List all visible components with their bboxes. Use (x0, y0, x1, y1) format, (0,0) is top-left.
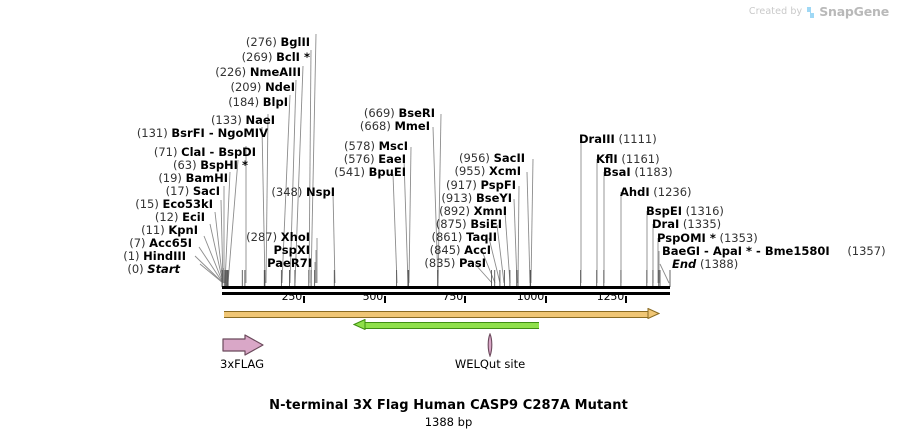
ruler-label-750: 750 (443, 290, 464, 303)
site-enzyme-name: BspHI (200, 158, 238, 172)
ruler-label-1250: 1250 (597, 290, 625, 303)
site-enzyme-name: AccI (464, 243, 491, 257)
site-position: (226) (215, 65, 246, 79)
site-position: (1111) (618, 132, 656, 146)
site-position: (955) (454, 164, 485, 178)
star-marker: * (300, 50, 310, 64)
site-position: (1353) (720, 231, 758, 245)
site-enzyme-name: PaeR7I (267, 256, 312, 270)
cds-track-arrow[interactable] (353, 319, 539, 330)
site-enzyme-name: EciI (182, 210, 205, 224)
site-enzyme-name: BclI (276, 50, 300, 64)
site-label[interactable]: (348) NspI (160, 186, 335, 199)
enzyme-label-layer: (276) BglII (269) BclI * (226) NmeAIII (… (0, 0, 897, 290)
cds-arrowhead-icon (353, 319, 539, 330)
3xflag-caption: 3xFLAG (220, 357, 264, 371)
site-position: (184) (228, 95, 259, 109)
site-enzyme-name: PasI (459, 256, 486, 270)
site-label[interactable]: (209) NdeI (0, 81, 295, 94)
site-enzyme-name-alt: BspDI (218, 145, 256, 159)
ruler-tick-250 (303, 296, 305, 303)
star-marker: * (706, 231, 716, 245)
site-enzyme-name: PspXI (274, 243, 310, 257)
site-position: (209) (230, 80, 261, 94)
site-position: (0) (127, 262, 143, 276)
site-enzyme-name: XmnI (474, 204, 507, 218)
site-label[interactable]: (668) MmeI (260, 120, 430, 133)
site-position: (913) (441, 191, 472, 205)
site-position: (71) (154, 145, 178, 159)
site-label[interactable]: (955) XcmI (340, 165, 521, 178)
snapgene-map: Created by SnapGene (0, 0, 897, 437)
site-enzyme-name: DraI (652, 217, 679, 231)
site-position: (15) (135, 197, 159, 211)
site-label[interactable]: AhdI (1236) (620, 186, 692, 199)
site-position: (1357) (847, 244, 885, 258)
ruler-label-250: 250 (282, 290, 303, 303)
site-position: (269) (242, 50, 273, 64)
ruler-tick-500 (384, 296, 386, 303)
ruler-label-500: 500 (363, 290, 384, 303)
site-enzyme-name: BamHI (186, 171, 228, 185)
site-enzyme-name: BseRI (398, 106, 435, 120)
site-enzyme-name: NdeI (265, 80, 295, 94)
site-enzyme-name: ClaI (181, 145, 205, 159)
site-enzyme-name: TaqII (466, 230, 497, 244)
ruler-tick-1000 (545, 296, 547, 303)
site-position: (1161) (621, 152, 659, 166)
site-enzyme-name: BsiEI (470, 217, 502, 231)
site-enzyme-name: MmeI (394, 119, 430, 133)
star-marker: * (238, 158, 248, 172)
ruler-tick-1250 (625, 296, 627, 303)
site-label-start[interactable]: (0) Start (0, 263, 180, 276)
site-position: (669) (364, 106, 395, 120)
site-enzyme-name: DraIII (579, 132, 615, 146)
site-position: (956) (459, 151, 490, 165)
site-label[interactable]: PaeR7I (160, 257, 312, 270)
site-position: (19) (158, 171, 182, 185)
site-position: (1) (123, 249, 139, 263)
site-label-end[interactable]: End (1388) (672, 258, 738, 271)
site-position: (1183) (634, 165, 672, 179)
site-position: (668) (360, 119, 391, 133)
site-label[interactable]: (835) PasI (340, 257, 486, 270)
site-position: (917) (446, 178, 477, 192)
site-position: (287) (246, 230, 277, 244)
site-enzyme-name: XcmI (489, 164, 521, 178)
site-position: (131) (137, 126, 168, 140)
site-position: (63) (173, 158, 197, 172)
site-label[interactable]: (226) NmeAIII (0, 66, 301, 79)
site-label[interactable]: DraI (1335) (652, 218, 721, 231)
ruler-tick-750 (464, 296, 466, 303)
site-position: (348) (271, 185, 302, 199)
site-enzyme-name: BsrFI (171, 126, 204, 140)
site-label[interactable]: (184) BlpI (0, 96, 288, 109)
orf-arrowhead-icon (224, 308, 660, 319)
site-enzyme-name-alt2: Bme1580I (765, 244, 830, 258)
site-position: (1236) (653, 185, 691, 199)
site-enzyme-name: KflI (596, 152, 618, 166)
site-enzyme-name: XhoI (281, 230, 310, 244)
site-position: (835) (424, 256, 455, 270)
end-label: End (672, 257, 696, 271)
site-enzyme-name: SacII (494, 151, 525, 165)
site-position: (1316) (686, 204, 724, 218)
site-enzyme-name: BspEI (646, 204, 682, 218)
site-position: (861) (431, 230, 462, 244)
site-enzyme-name: AhdI (620, 185, 650, 199)
site-enzyme-name: NspI (306, 185, 335, 199)
sequence-length-label: 1388 bp (0, 415, 897, 429)
welqut-site-feature[interactable] (484, 333, 496, 357)
site-label[interactable]: DraIII (1111) (579, 133, 657, 146)
site-position: (892) (439, 204, 470, 218)
site-enzyme-name: BglII (281, 35, 311, 49)
site-enzyme-name-alt: ApaI * (713, 244, 752, 258)
site-position: (1335) (683, 217, 721, 231)
site-position: (276) (246, 35, 277, 49)
site-position: (875) (436, 217, 467, 231)
site-label[interactable]: BsaI (1183) (603, 166, 673, 179)
orf-track-arrow[interactable] (224, 308, 660, 319)
site-label[interactable]: (276) BglII (0, 36, 310, 49)
site-label[interactable]: (269) BclI * (0, 51, 310, 64)
page-title: N-terminal 3X Flag Human CASP9 C287A Mut… (0, 398, 897, 413)
site-position: (578) (344, 139, 375, 153)
welqut-site-caption: WELQut site (455, 357, 525, 371)
site-position: (845) (430, 243, 461, 257)
site-enzyme-name: MscI (379, 139, 408, 153)
site-enzyme-name: PspFI (481, 178, 516, 192)
site-enzyme-name: PspOMI (657, 231, 706, 245)
site-enzyme-name: BaeGI (662, 244, 700, 258)
site-enzyme-name: Eco53kI (162, 197, 213, 211)
site-enzyme-name: NmeAIII (250, 65, 301, 79)
site-label[interactable]: (131) BsrFI - NgoMIV (0, 127, 268, 140)
site-position: (12) (155, 210, 179, 224)
site-position: (133) (211, 113, 242, 127)
3xflag-feature-arrow[interactable] (221, 334, 265, 356)
ruler-label-1000: 1000 (517, 290, 545, 303)
site-position: (7) (129, 236, 145, 250)
site-enzyme-name: BsaI (603, 165, 631, 179)
site-enzyme-name: BseYI (476, 191, 512, 205)
site-position: (1388) (700, 257, 738, 271)
